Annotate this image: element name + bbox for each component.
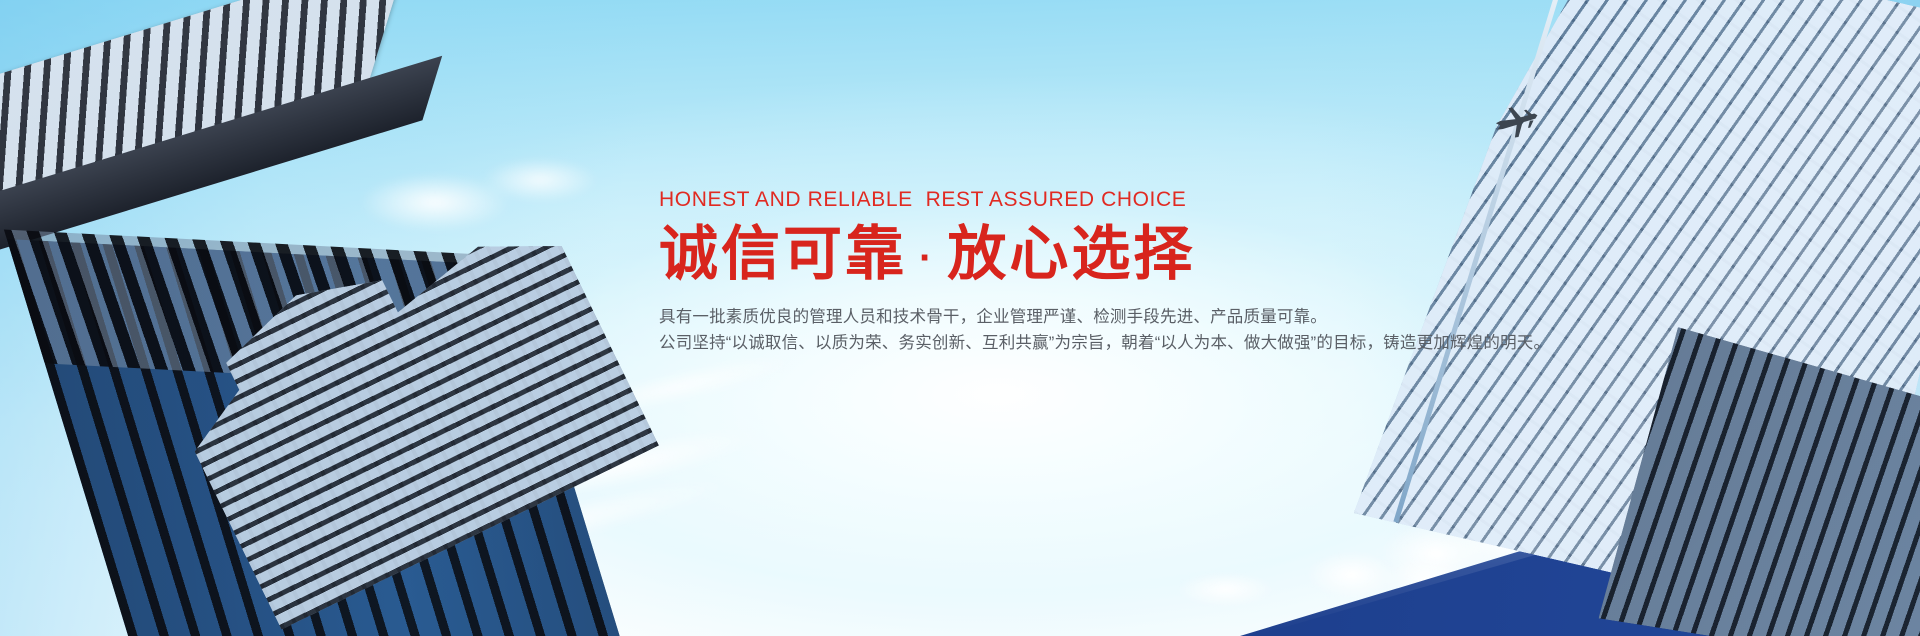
headline-left: 诚信可靠	[659, 221, 907, 287]
banner-copy: HONEST AND RELIABLE REST ASSURED CHOICE …	[659, 188, 1619, 357]
banner-headline: 诚信可靠·放心选择	[659, 220, 1619, 290]
headline-right: 放心选择	[947, 221, 1195, 287]
banner-body-line-2: 公司坚持“以诚取信、以质为荣、务实创新、互利共赢”为宗旨，朝着“以人为本、做大做…	[659, 330, 1619, 357]
banner-eyebrow: HONEST AND RELIABLE REST ASSURED CHOICE	[659, 188, 1619, 212]
headline-separator-dot: ·	[907, 236, 947, 280]
hero-banner: HONEST AND RELIABLE REST ASSURED CHOICE …	[0, 0, 1920, 636]
banner-body-line-1: 具有一批素质优良的管理人员和技术骨干，企业管理严谨、检测手段先进、产品质量可靠。	[659, 304, 1619, 331]
